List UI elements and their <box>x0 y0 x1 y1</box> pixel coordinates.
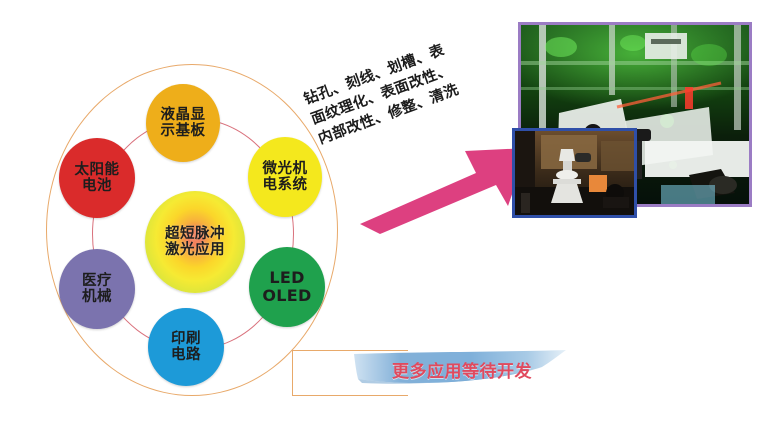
ribbon-label: 更多应用等待开发 <box>352 350 572 392</box>
bubble-solar-line1: 太阳能 <box>75 162 120 178</box>
ribbon-banner: 更多应用等待开发 <box>352 350 572 392</box>
diagram-canvas: 液晶显 示基板 太阳能 电池 微光机 电系统 医疗 机械 LED OLED 印刷… <box>0 0 775 426</box>
bubble-pcb-line1: 印刷 <box>171 331 201 347</box>
process-arrow <box>358 140 533 235</box>
bubble-solar-line2: 电池 <box>82 178 112 194</box>
bubble-solar-cell[interactable]: 太阳能 电池 <box>59 138 135 218</box>
bubble-pcb-line2: 电路 <box>171 347 201 363</box>
bubble-medical-line2: 机械 <box>82 289 112 305</box>
bubble-pcb[interactable]: 印刷 电路 <box>148 308 224 386</box>
bubble-center-line2: 激光应用 <box>165 242 225 258</box>
bubble-led-oled[interactable]: LED OLED <box>249 247 325 327</box>
bubble-led-line1: LED <box>269 269 304 287</box>
microscope-photo <box>512 128 637 218</box>
bubble-center-ultrafast-laser[interactable]: 超短脉冲 激光应用 <box>145 191 245 293</box>
bubble-medical-line1: 医疗 <box>82 273 112 289</box>
bubble-led-line2: OLED <box>262 287 311 305</box>
arrow-icon <box>358 140 533 235</box>
bubble-mems[interactable]: 微光机 电系统 <box>248 137 322 217</box>
bubble-lcd[interactable]: 液晶显 示基板 <box>146 84 220 162</box>
bubble-center-line1: 超短脉冲 <box>165 226 225 242</box>
bubble-lcd-line1: 液晶显 <box>161 107 206 123</box>
bubble-medical[interactable]: 医疗 机械 <box>59 249 135 329</box>
bubble-mems-line2: 电系统 <box>263 177 308 193</box>
bubble-lcd-line2: 示基板 <box>161 123 206 139</box>
bubble-mems-line1: 微光机 <box>263 161 308 177</box>
microscope-image <box>515 131 634 215</box>
